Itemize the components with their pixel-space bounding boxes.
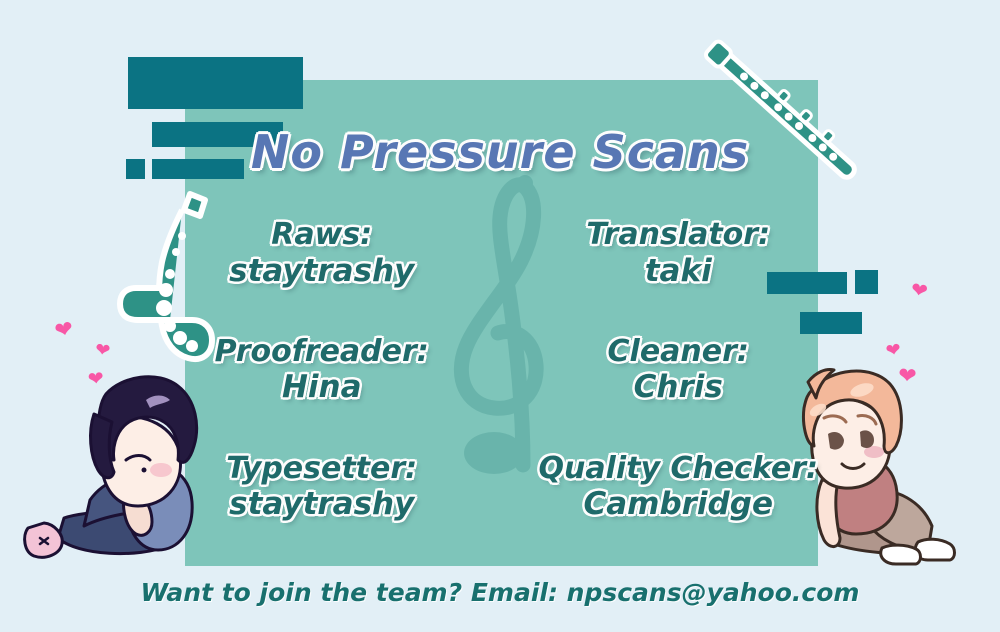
credit-role-label: Typesetter: — [226, 452, 417, 486]
credits-grid: Raws: staytrashy Translator: taki Proofr… — [185, 195, 818, 545]
credit-proofreader: Proofreader: Hina — [185, 312, 494, 429]
heart-icon: ❤ — [94, 341, 111, 361]
credit-role-label: Quality Checker: — [538, 452, 818, 486]
credit-name-value: Cambridge — [583, 487, 772, 522]
page-title: No Pressure Scans — [0, 125, 1000, 179]
heart-icon: ❤ — [53, 318, 76, 343]
credit-quality-checker: Quality Checker: Cambridge — [494, 428, 818, 545]
credits-page: No Pressure Scans Raws: staytrashy Trans… — [0, 0, 1000, 632]
credit-name-value: Hina — [282, 370, 362, 405]
credit-role-label: Cleaner: — [608, 335, 749, 369]
credit-name-value: staytrashy — [229, 487, 414, 522]
credit-raws: Raws: staytrashy — [185, 195, 494, 312]
credit-name-value: taki — [645, 254, 712, 289]
credit-name-value: staytrashy — [229, 254, 414, 289]
credit-role-label: Proofreader: — [215, 335, 429, 369]
credit-typesetter: Typesetter: staytrashy — [185, 428, 494, 545]
heart-icon: ❤ — [909, 279, 929, 302]
deco-rect-top-large — [128, 57, 303, 109]
deco-square-right-tiny — [855, 270, 878, 294]
credit-translator: Translator: taki — [494, 195, 818, 312]
credit-role-label: Raws: — [271, 218, 372, 252]
credit-role-label: Translator: — [586, 218, 770, 252]
join-team-footer: Want to join the team? Email: npscans@ya… — [0, 578, 1000, 607]
credit-name-value: Chris — [634, 370, 723, 405]
credit-cleaner: Cleaner: Chris — [494, 312, 818, 429]
